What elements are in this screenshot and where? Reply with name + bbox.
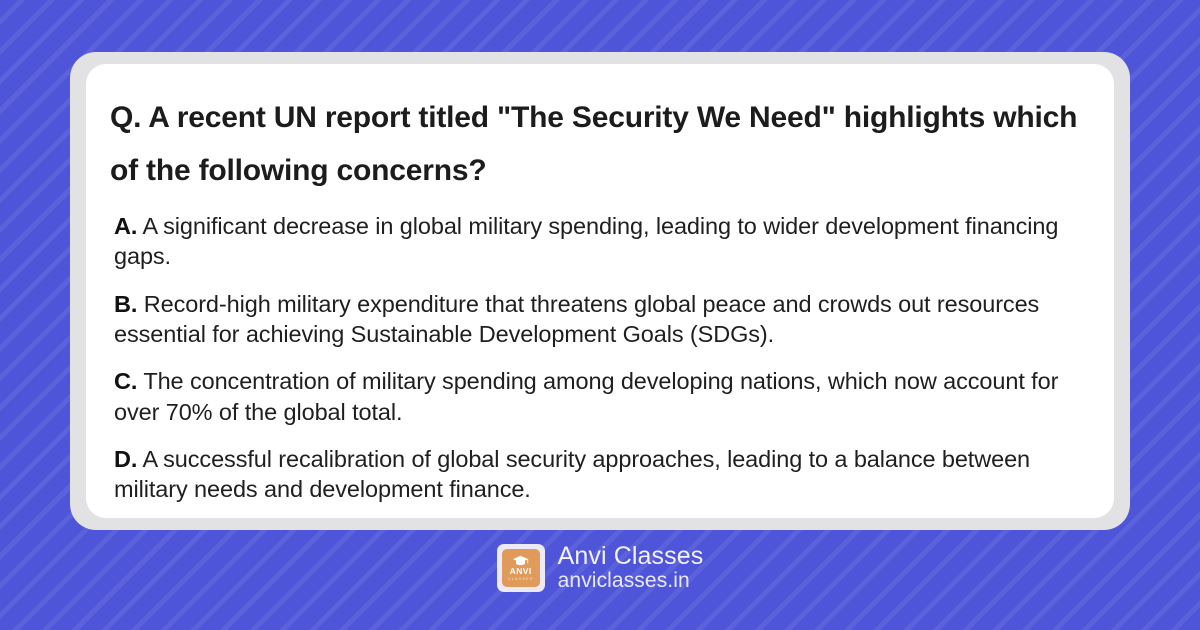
logo-mark: ANVI CLASSES	[502, 549, 540, 587]
option-b-text: Record-high military expenditure that th…	[114, 291, 1039, 347]
option-d-letter: D.	[114, 446, 137, 472]
option-c[interactable]: C. The concentration of military spendin…	[114, 366, 1095, 427]
options-list: A. A significant decrease in global mili…	[110, 211, 1095, 505]
option-c-letter: C.	[114, 368, 137, 394]
option-a-letter: A.	[114, 213, 137, 239]
brand-text-block: Anvi Classes anviclasses.in	[558, 543, 704, 593]
brand-logo: ANVI CLASSES	[497, 544, 545, 592]
brand-name: Anvi Classes	[558, 543, 704, 570]
option-b[interactable]: B. Record-high military expenditure that…	[114, 289, 1095, 350]
option-b-letter: B.	[114, 291, 137, 317]
option-a-text: A significant decrease in global militar…	[114, 213, 1058, 269]
logo-primary-text: ANVI	[510, 567, 532, 576]
graduation-cap-icon	[512, 555, 529, 566]
question-text: Q. A recent UN report titled "The Securi…	[110, 92, 1095, 197]
brand-footer: ANVI CLASSES Anvi Classes anviclasses.in	[0, 543, 1200, 593]
option-d[interactable]: D. A successful recalibration of global …	[114, 444, 1095, 505]
option-c-text: The concentration of military spending a…	[114, 368, 1058, 424]
card-content: Q. A recent UN report titled "The Securi…	[110, 92, 1095, 505]
quiz-card-page: Q. A recent UN report titled "The Securi…	[0, 0, 1200, 630]
logo-secondary-text: CLASSES	[508, 577, 533, 581]
brand-url[interactable]: anviclasses.in	[558, 570, 704, 593]
option-d-text: A successful recalibration of global sec…	[114, 446, 1030, 502]
option-a[interactable]: A. A significant decrease in global mili…	[114, 211, 1095, 272]
